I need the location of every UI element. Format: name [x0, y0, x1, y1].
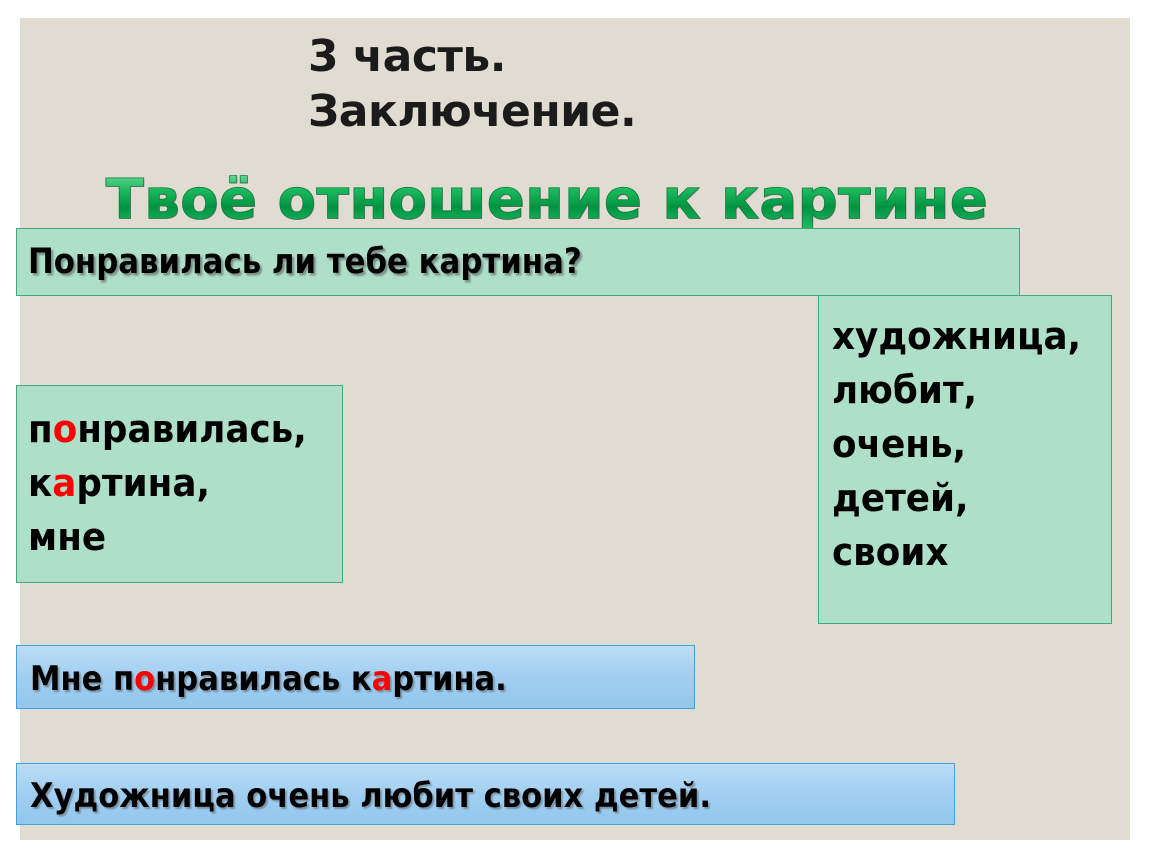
highlight-letter: а: [52, 461, 76, 505]
sentence-text-2: Художница очень любит своих детей.: [30, 776, 711, 816]
word-line: картина,: [28, 457, 307, 511]
word-segment: детей,: [832, 476, 969, 520]
word-segment: очень,: [832, 422, 966, 466]
word-segment: к: [28, 461, 52, 505]
word-segment: ртина.: [392, 659, 506, 699]
right-word-list: художница,любит,очень,детей,своих: [832, 310, 1081, 580]
word-segment: любит,: [832, 368, 977, 412]
word-line: понравилась,: [28, 403, 307, 457]
word-segment: мне: [28, 515, 106, 559]
left-word-list: понравилась,картина,мне: [28, 403, 307, 565]
word-line: своих: [832, 526, 1081, 580]
highlight-letter: о: [53, 407, 78, 451]
word-segment: художница,: [832, 314, 1081, 358]
question-text: Понравилась ли тебе картина?: [28, 242, 582, 282]
wordart-title: Твоё отношение к картине: [106, 168, 1106, 231]
sentence-text-1: Мне понравилась картина.: [30, 659, 507, 699]
word-segment: своих: [832, 530, 948, 574]
word-segment: п: [28, 407, 53, 451]
word-segment: Мне п: [30, 659, 134, 699]
word-segment: ртина,: [76, 461, 210, 505]
word-line: очень,: [832, 418, 1081, 472]
slide-heading: 3 часть. Заключение.: [308, 30, 828, 139]
word-segment: нравилась к: [155, 659, 371, 699]
word-line: детей,: [832, 472, 1081, 526]
highlight-letter: а: [372, 659, 393, 699]
word-line: любит,: [832, 364, 1081, 418]
heading-line-2: Заключение.: [308, 85, 828, 140]
word-segment: Художница очень любит своих детей.: [30, 776, 711, 816]
heading-line-1: 3 часть.: [308, 30, 828, 85]
word-line: мне: [28, 511, 307, 565]
word-segment: нравилась,: [77, 407, 307, 451]
word-line: художница,: [832, 310, 1081, 364]
highlight-letter: о: [134, 659, 155, 699]
slide-canvas: 3 часть. Заключение. Твоё отношение к ка…: [20, 18, 1130, 840]
